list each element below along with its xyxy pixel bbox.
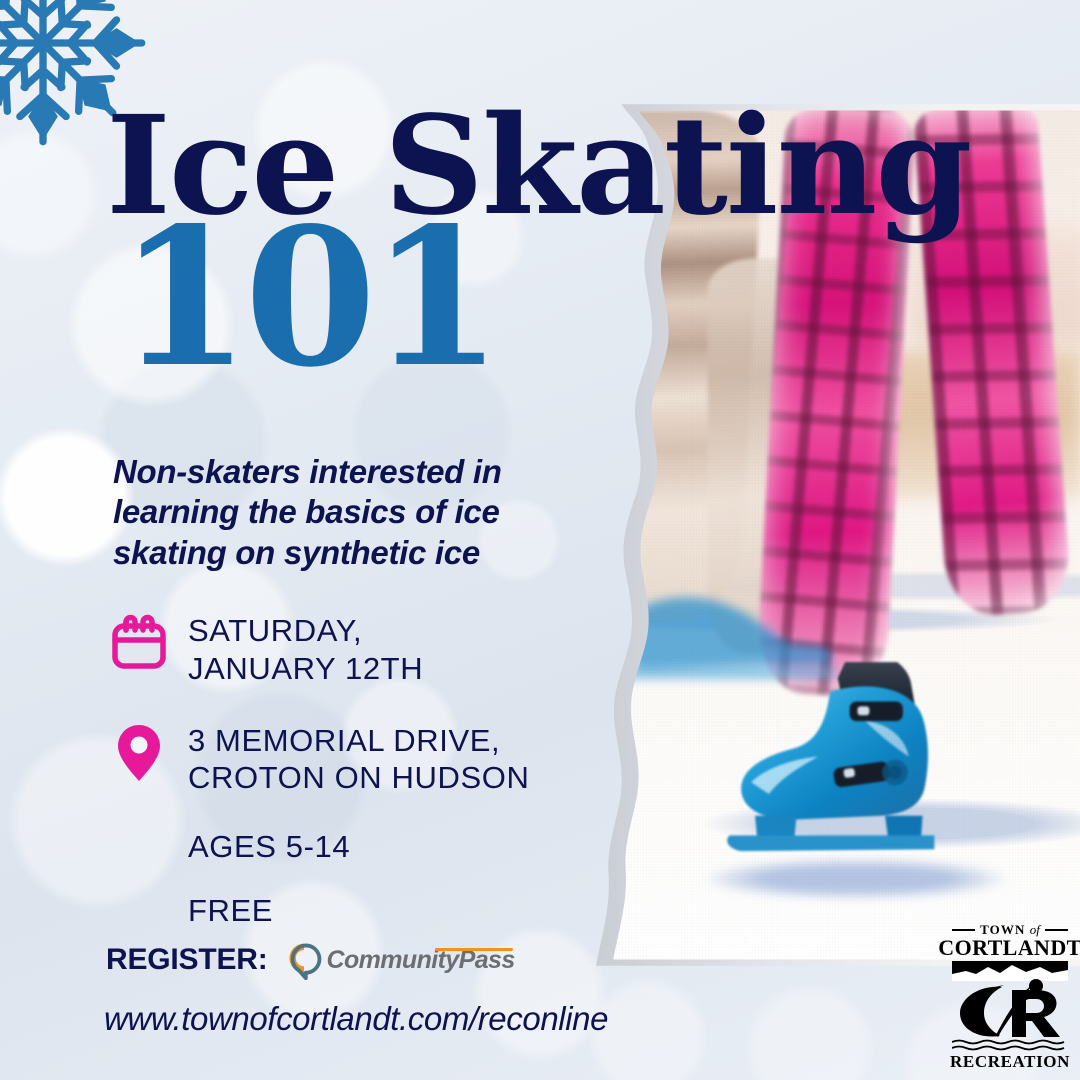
logo-landscape-band — [952, 961, 1068, 981]
event-details: SATURDAY, JANUARY 12TH 3 MEMORIAL DRIVE,… — [108, 610, 608, 957]
communitypass-wordmark: CommunityPass — [327, 946, 515, 975]
communitypass-swoosh — [435, 948, 513, 951]
register-label: REGISTER: — [106, 943, 268, 977]
town-of-cortlandt-recreation-logo: TOWN of CORTLANDT — [952, 922, 1068, 1072]
communitypass-logo[interactable]: CommunityPass — [284, 940, 515, 980]
detail-row-location: 3 MEMORIAL DRIVE, CROTON ON HUDSON — [108, 720, 608, 798]
calendar-icon — [108, 610, 170, 670]
content-column: Ice Skating 101 Non-skaters interested i… — [0, 0, 620, 1080]
logo-rule-right — [1045, 929, 1068, 931]
registration-url[interactable]: www.townofcortlandt.com/reconline — [104, 1000, 608, 1038]
logo-rule-left — [952, 929, 975, 931]
logo-recreation-text: RECREATION — [950, 1052, 1070, 1072]
logo-cr-monogram — [952, 979, 1068, 1041]
register-line: REGISTER: CommunityPass — [106, 940, 515, 980]
detail-row-date: SATURDAY, JANUARY 12TH — [108, 610, 608, 688]
logo-cortlandt-text: CORTLANDT — [938, 937, 1080, 959]
page-title: Ice Skating — [106, 104, 970, 229]
communitypass-mark — [284, 940, 324, 980]
detail-price: FREE — [188, 893, 608, 929]
poster-canvas: Ice Skating 101 Non-skaters interested i… — [0, 0, 1080, 1080]
subheadline: Non-skaters interested in learning the b… — [113, 452, 583, 573]
detail-ages: AGES 5-14 — [188, 829, 608, 865]
detail-text-location: 3 MEMORIAL DRIVE, CROTON ON HUDSON — [188, 720, 529, 798]
detail-text-date: SATURDAY, JANUARY 12TH — [188, 610, 423, 688]
map-pin-icon — [108, 720, 170, 782]
